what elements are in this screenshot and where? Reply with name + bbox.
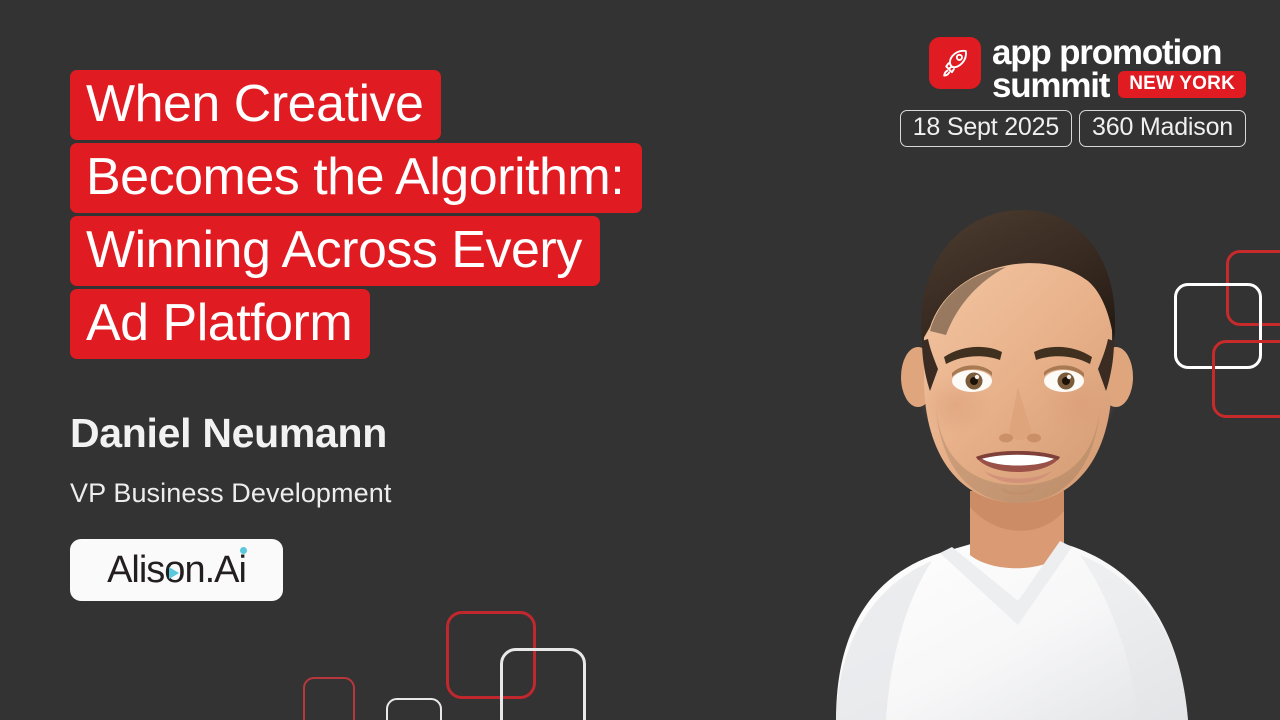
speaker-role: VP Business Development (70, 478, 391, 509)
event-date-pill: 18 Sept 2025 (900, 110, 1072, 147)
title-line-3: Winning Across Every (70, 216, 600, 286)
cyan-dot-icon (240, 547, 247, 554)
company-logo-badge: Alis o n.A i (70, 539, 283, 601)
title-line-1: When Creative (70, 70, 441, 140)
decorative-square-bottomleft-red-small (303, 677, 355, 720)
decorative-square-bottomleft-white-large (500, 648, 586, 720)
company-logo-o-with-play: o (164, 549, 184, 592)
decorative-square-right-red-bottom (1212, 340, 1280, 418)
event-logo-line2: summit NEW YORK (992, 69, 1246, 102)
event-logo: app promotion summit NEW YORK 18 Sept 20… (900, 36, 1246, 147)
company-wordmark: Alis o n.A i (107, 549, 246, 592)
city-badge: NEW YORK (1118, 71, 1246, 98)
decorative-square-bottomleft-white-small (386, 698, 442, 720)
play-icon (169, 567, 179, 579)
company-logo-i-with-dot: i (238, 549, 245, 592)
company-name-part-2: n.A (184, 549, 238, 592)
speaker-portrait (640, 155, 1220, 720)
event-logo-summit: summit (992, 69, 1109, 102)
event-venue-pill: 360 Madison (1079, 110, 1246, 147)
event-logo-row: app promotion summit NEW YORK (929, 36, 1246, 103)
session-title: When Creative Becomes the Algorithm: Win… (70, 70, 642, 359)
title-line-2: Becomes the Algorithm: (70, 143, 642, 213)
event-logo-words: app promotion summit NEW YORK (992, 36, 1246, 103)
title-line-4: Ad Platform (70, 289, 370, 359)
company-name-part-1: Alis (107, 549, 164, 592)
speaker-name: Daniel Neumann (70, 410, 387, 457)
event-meta-pills: 18 Sept 2025 360 Madison (900, 110, 1246, 147)
rocket-icon-tile (929, 37, 981, 89)
company-letter-i: i (238, 549, 245, 591)
rocket-icon (938, 46, 972, 80)
event-logo-line1: app promotion (992, 36, 1246, 69)
